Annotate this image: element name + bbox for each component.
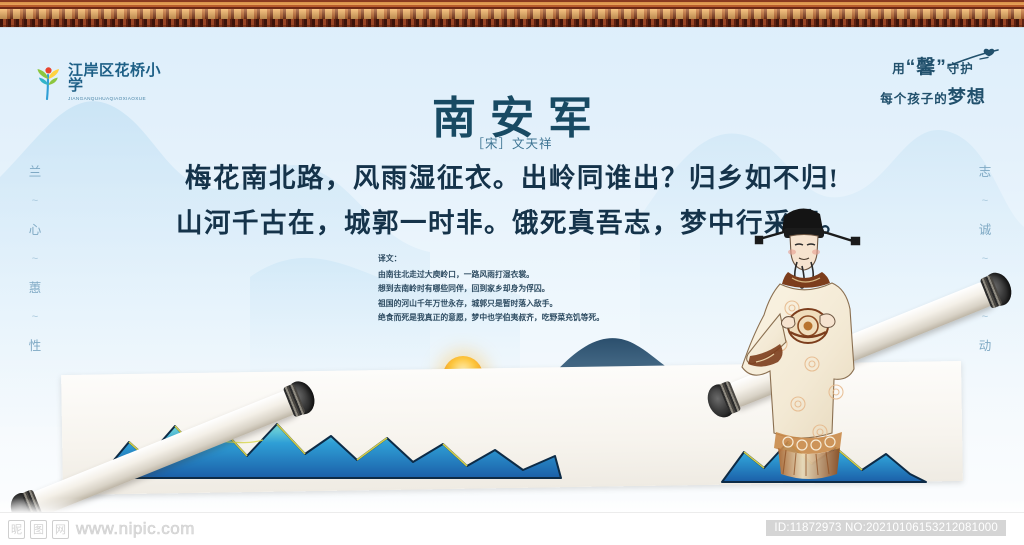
nipic-logo-char: 昵 xyxy=(8,520,25,539)
nipic-url: www.nipic.com xyxy=(76,519,195,539)
translation-line: 由南往北走过大庾岭口，一路风雨打湿衣裳。 xyxy=(378,268,678,282)
watermark-bar: 昵 图 网 www.nipic.com ID:11872973 NO:20210… xyxy=(0,512,1024,545)
poster-canvas: 江岸区花桥小学 JIANGANQUHUAQIAOXIAOXUE 用“馨”守护 每… xyxy=(0,0,1024,545)
image-id-badge: ID:11872973 NO:20210106153212081000 xyxy=(766,520,1006,536)
chinese-eaves-border xyxy=(0,0,1024,27)
translation-label: 译文： xyxy=(378,252,678,266)
side-text-right-separator: ~ xyxy=(972,188,998,214)
slogan-line1-pre: 用 xyxy=(892,62,906,76)
side-text-right-char: 志 xyxy=(972,156,998,188)
nipic-logo: 昵 图 网 xyxy=(8,520,69,539)
nipic-logo-char: 图 xyxy=(30,520,47,539)
eaves-drop-shadow xyxy=(0,25,1024,28)
side-text-left-separator: ~ xyxy=(22,246,48,272)
slogan-swoosh-icon xyxy=(946,48,1004,68)
side-text-left-separator: ~ xyxy=(22,188,48,214)
side-text-left-char: 兰 xyxy=(22,156,48,188)
side-text-left-char: 心 xyxy=(22,214,48,246)
nipic-logo-char: 网 xyxy=(52,520,69,539)
watermark-fade xyxy=(0,498,1024,512)
poem-byline: ［宋］文天祥 xyxy=(0,133,1024,152)
translation-line: 想到去南岭时有哪些同伴，回到家乡却身为俘囚。 xyxy=(378,282,678,296)
scholar-figure-illustration xyxy=(740,196,890,486)
poem-line: 梅花南北路，风雨湿征衣。出岭同谁出？归乡如不归! xyxy=(0,156,1024,201)
slogan-line1-emphasis: “馨” xyxy=(906,57,947,78)
side-text-right-char: 诚 xyxy=(972,214,998,246)
side-text-right-separator: ~ xyxy=(972,246,998,272)
